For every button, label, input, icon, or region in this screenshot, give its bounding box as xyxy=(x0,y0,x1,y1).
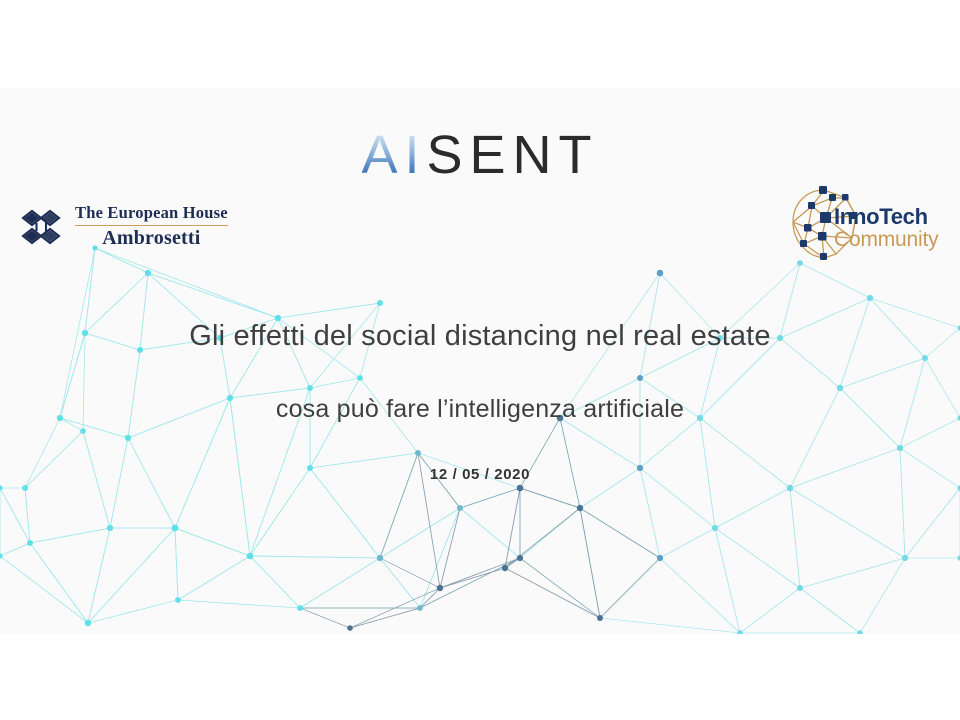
innotech-line-2: Community xyxy=(834,229,956,252)
page-subtitle: cosa può fare l’intelligenza artificiale xyxy=(0,394,960,425)
ambrosetti-divider-rule xyxy=(75,225,228,227)
presentation-date: 12 / 05 / 2020 xyxy=(0,466,960,483)
aisent-plain-text: SENT xyxy=(427,125,599,185)
title-block: Gli effetti del social distancing nel re… xyxy=(0,318,960,483)
ambrosetti-logo: The European House Ambrosetti xyxy=(20,196,232,258)
aisent-wordmark: AISENT xyxy=(0,128,960,182)
innotech-community-logo: InnoTech Community xyxy=(786,184,954,268)
innotech-line-1: InnoTech xyxy=(834,206,956,228)
aisent-accent-text: AI xyxy=(361,125,426,185)
page-title: Gli effetti del social distancing nel re… xyxy=(0,318,960,354)
ambrosetti-line-2: Ambrosetti xyxy=(102,227,200,249)
ambrosetti-mark-icon xyxy=(20,205,66,249)
slide-root: AISENT The European House Ambrosetti xyxy=(0,0,960,720)
ambrosetti-line-1: The European House xyxy=(75,204,228,222)
innotech-wordmark: InnoTech Community xyxy=(834,206,956,252)
ambrosetti-wordmark: The European House Ambrosetti xyxy=(75,204,228,249)
